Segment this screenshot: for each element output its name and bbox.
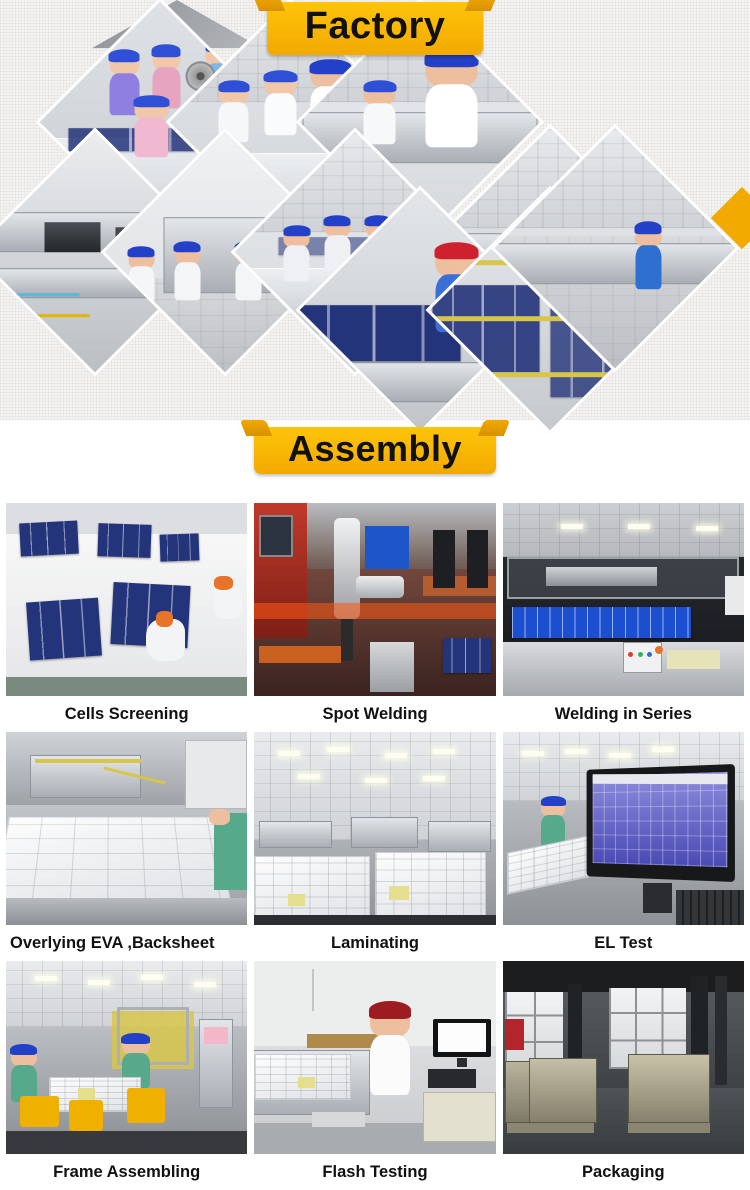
- factory-photo-mosaic: [0, 0, 750, 420]
- thumb-laminating[interactable]: [254, 732, 495, 925]
- caption-overlying-eva: Overlying EVA ,Backsheet: [6, 925, 247, 961]
- caption-packaging: Packaging: [503, 1154, 744, 1190]
- keyboard: [676, 890, 744, 925]
- pallet-stack-3: [628, 1054, 710, 1123]
- factory-banner: Factory: [0, 2, 750, 55]
- caption-flash-testing: Flash Testing: [254, 1154, 495, 1190]
- thumb-welding-series[interactable]: [503, 503, 744, 696]
- assembly-step-frame-assembling[interactable]: Frame Assembling: [6, 961, 247, 1190]
- assembly-banner-label: Assembly: [288, 428, 462, 469]
- assembly-banner-ribbon: Assembly: [254, 427, 496, 474]
- thumb-spot-welding[interactable]: [254, 503, 495, 696]
- ribbon-tail-left: [240, 420, 272, 436]
- factory-section: Factory Assembly: [0, 0, 750, 490]
- factory-banner-label: Factory: [305, 5, 446, 47]
- monitor-screen: [593, 772, 728, 867]
- thumb-el-test[interactable]: [503, 732, 744, 925]
- ribbon-tail-left: [252, 0, 284, 11]
- ribbon-tail-right: [478, 420, 510, 436]
- thumb-packaging[interactable]: [503, 961, 744, 1154]
- caption-frame-assembling: Frame Assembling: [6, 1154, 247, 1190]
- assembly-step-overlying-eva[interactable]: Overlying EVA ,Backsheet: [6, 732, 247, 961]
- thumb-frame-assembling[interactable]: [6, 961, 247, 1154]
- caption-welding-series: Welding in Series: [503, 696, 744, 732]
- assembly-step-el-test[interactable]: EL Test: [503, 732, 744, 961]
- caption-el-test: EL Test: [503, 925, 744, 961]
- caption-laminating: Laminating: [254, 925, 495, 961]
- caption-cells-screening: Cells Screening: [6, 696, 247, 732]
- assembly-step-packaging[interactable]: Packaging: [503, 961, 744, 1190]
- assembly-step-laminating[interactable]: Laminating: [254, 732, 495, 961]
- factory-banner-ribbon: Factory: [267, 2, 484, 55]
- assembly-step-cells-screening[interactable]: Cells Screening: [6, 503, 247, 732]
- assembly-step-flash-testing[interactable]: Flash Testing: [254, 961, 495, 1190]
- assembly-steps-grid: Cells Screening Spot Welding: [0, 503, 750, 1190]
- caption-spot-welding: Spot Welding: [254, 696, 495, 732]
- assembly-step-welding-series[interactable]: Welding in Series: [503, 503, 744, 732]
- thumb-flash-testing[interactable]: [254, 961, 495, 1154]
- ribbon-tail-right: [465, 0, 497, 11]
- assembly-banner: Assembly: [0, 427, 750, 474]
- assembly-step-spot-welding[interactable]: Spot Welding: [254, 503, 495, 732]
- thumb-cells-screening[interactable]: [6, 503, 247, 696]
- thumb-overlying-eva[interactable]: [6, 732, 247, 925]
- pallet-stack-2: [529, 1058, 597, 1124]
